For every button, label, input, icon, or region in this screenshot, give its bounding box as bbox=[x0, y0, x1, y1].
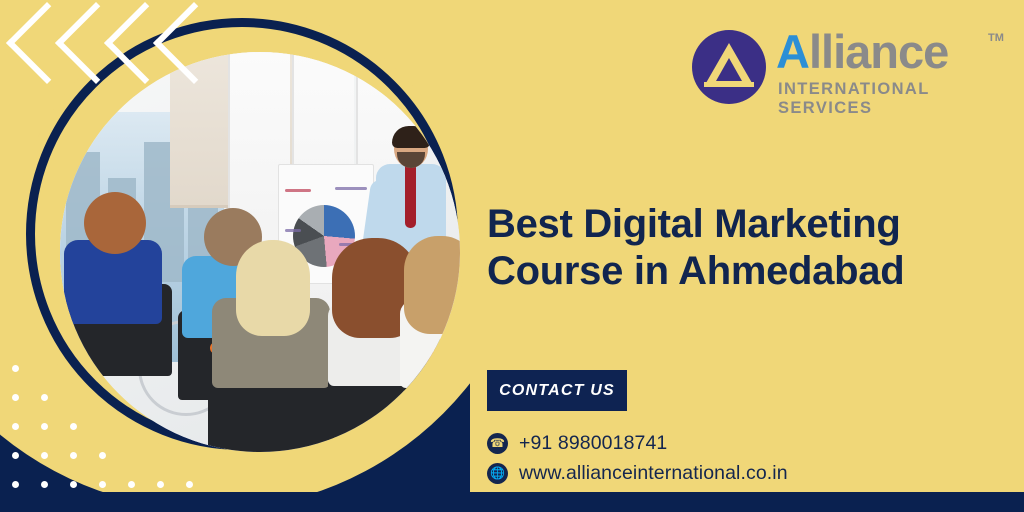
attendee-head bbox=[236, 240, 310, 336]
chart-label bbox=[335, 187, 367, 190]
dot bbox=[70, 452, 77, 459]
triangle-inner bbox=[716, 58, 742, 81]
alliance-a-monogram-icon bbox=[692, 30, 766, 104]
logo-wordmark: Alliance bbox=[776, 28, 948, 75]
chart-label bbox=[285, 229, 301, 232]
dot bbox=[12, 481, 19, 488]
logo-tagline: INTERNATIONAL SERVICES bbox=[778, 80, 1004, 118]
marketing-banner: Alliance TM INTERNATIONAL SERVICES Best … bbox=[0, 0, 1024, 512]
page-title: Best Digital Marketing Course in Ahmedab… bbox=[487, 201, 1007, 295]
dot bbox=[12, 423, 19, 430]
dot bbox=[128, 481, 135, 488]
dot bbox=[70, 481, 77, 488]
headline-line-1: Best Digital Marketing bbox=[487, 201, 1007, 248]
phone-row[interactable]: ☎ +91 8980018741 bbox=[487, 428, 947, 458]
dot bbox=[12, 365, 19, 372]
chevron-left-icon bbox=[153, 2, 235, 84]
contact-us-button[interactable]: CONTACT US bbox=[487, 370, 627, 411]
chevron-decoration bbox=[18, 8, 248, 128]
website-url: www.allianceinternational.co.in bbox=[519, 462, 788, 485]
dot bbox=[12, 394, 19, 401]
presenter-tie bbox=[405, 166, 416, 228]
dot bbox=[41, 452, 48, 459]
attendee-head bbox=[84, 192, 146, 254]
logo-word-rest: lliance bbox=[809, 25, 948, 78]
contact-info: ☎ +91 8980018741 🌐 www.allianceinternati… bbox=[487, 428, 947, 488]
attendee-head bbox=[404, 236, 460, 334]
dot bbox=[99, 452, 106, 459]
headline-line-2: Course in Ahmedabad bbox=[487, 248, 1007, 295]
alliance-logo: Alliance TM INTERNATIONAL SERVICES bbox=[692, 26, 1004, 112]
bottom-navy-bar bbox=[0, 492, 1024, 512]
dot bbox=[12, 452, 19, 459]
dot bbox=[41, 394, 48, 401]
presenter-hair bbox=[392, 126, 430, 148]
chart-label bbox=[285, 189, 311, 192]
dot bbox=[186, 481, 193, 488]
triangle-base-bar bbox=[704, 82, 754, 87]
logo-first-letter: A bbox=[776, 25, 809, 78]
trademark-mark: TM bbox=[988, 32, 1004, 44]
dot bbox=[157, 481, 164, 488]
phone-number: +91 8980018741 bbox=[519, 432, 667, 455]
website-row[interactable]: 🌐 www.allianceinternational.co.in bbox=[487, 458, 947, 488]
dot bbox=[41, 481, 48, 488]
dot bbox=[99, 481, 106, 488]
globe-icon: 🌐 bbox=[487, 463, 508, 484]
phone-icon: ☎ bbox=[487, 433, 508, 454]
dot bbox=[41, 423, 48, 430]
